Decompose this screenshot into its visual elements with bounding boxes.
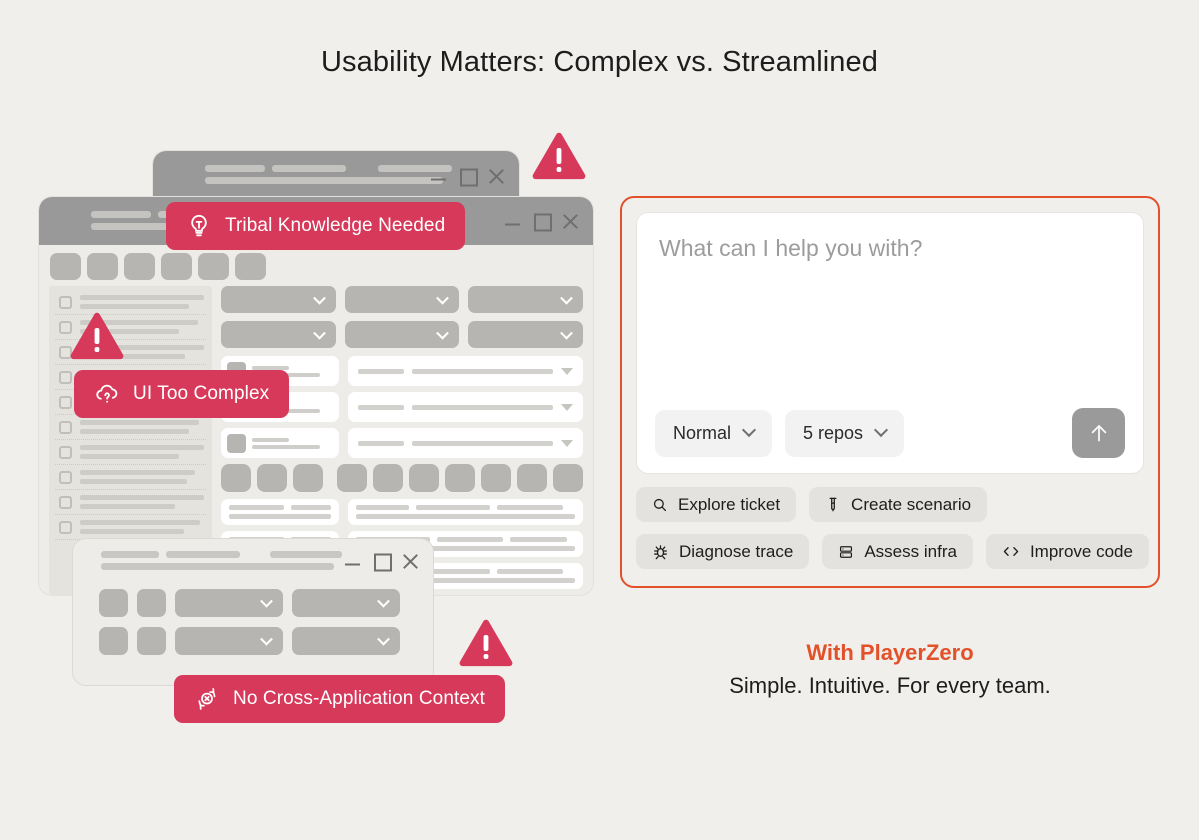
select-row [221, 286, 583, 313]
titlebar-placeholder-bars [101, 551, 342, 574]
icon-button[interactable] [137, 627, 166, 655]
select-placeholder[interactable] [468, 286, 583, 313]
close-icon[interactable] [402, 553, 419, 570]
code-brackets-icon [1002, 544, 1020, 559]
suggestion-row: Diagnose trace Assess infra [636, 534, 1144, 569]
toolbar [39, 245, 593, 286]
row-card[interactable] [348, 392, 583, 422]
lightbulb-icon [186, 213, 212, 239]
row-card[interactable] [348, 356, 583, 386]
toolbar-button[interactable] [50, 253, 81, 280]
window-controls[interactable] [430, 168, 505, 185]
checkbox[interactable] [59, 421, 72, 434]
chip-label: Improve code [1030, 542, 1133, 562]
composer[interactable]: What can I help you with? Normal 5 repos [636, 212, 1144, 474]
brand-text: With PlayerZero [620, 640, 1160, 666]
badge-label: No Cross-Application Context [233, 688, 485, 710]
callout-badge-no-context: No Cross-Application Context [174, 675, 505, 723]
pill-button[interactable] [481, 464, 511, 492]
pill-button[interactable] [553, 464, 583, 492]
toolbar-button[interactable] [198, 253, 229, 280]
window-controls[interactable] [504, 213, 579, 230]
repos-dropdown-label: 5 repos [803, 423, 863, 444]
chevron-down-icon [260, 595, 273, 608]
chip-label: Diagnose trace [679, 542, 793, 562]
mode-dropdown-label: Normal [673, 423, 731, 444]
maximize-icon[interactable] [459, 168, 476, 185]
text-row [221, 499, 583, 525]
control-row [99, 627, 413, 655]
refresh-error-icon [194, 686, 220, 712]
select-placeholder[interactable] [221, 286, 336, 313]
checkbox[interactable] [59, 371, 72, 384]
pill-button[interactable] [517, 464, 547, 492]
server-icon [838, 544, 854, 560]
toolbar-button[interactable] [235, 253, 266, 280]
chip-label: Explore ticket [678, 495, 780, 515]
flask-icon [825, 496, 841, 513]
badge-label: Tribal Knowledge Needed [225, 215, 445, 237]
pill-button[interactable] [373, 464, 403, 492]
chevron-down-icon [377, 595, 390, 608]
chevron-down-icon [436, 326, 449, 339]
repos-dropdown[interactable]: 5 repos [785, 410, 904, 457]
window-body [73, 583, 433, 655]
callout-badge-tribal-knowledge: Tribal Knowledge Needed [166, 202, 465, 250]
warning-triangle-icon [458, 618, 514, 668]
select-placeholder[interactable] [345, 321, 460, 348]
window-titlebar [73, 539, 433, 583]
list-card[interactable] [221, 428, 339, 458]
minimize-icon[interactable] [344, 553, 361, 570]
chevron-down-icon [874, 423, 888, 437]
minimize-icon[interactable] [504, 213, 521, 230]
checkbox[interactable] [59, 471, 72, 484]
chevron-down-icon [561, 440, 573, 447]
list-item[interactable] [55, 465, 206, 490]
select-placeholder[interactable] [292, 589, 400, 617]
control-row [99, 589, 413, 617]
cloud-question-icon [94, 381, 120, 407]
wireframe-window-front[interactable] [72, 538, 434, 686]
checkbox[interactable] [59, 396, 72, 409]
checkbox[interactable] [59, 446, 72, 459]
select-placeholder[interactable] [345, 286, 460, 313]
warning-triangle-icon [69, 311, 125, 361]
page-title: Usability Matters: Complex vs. Streamlin… [0, 46, 1199, 79]
select-placeholder[interactable] [468, 321, 583, 348]
text-card [348, 499, 583, 525]
text-card [221, 499, 339, 525]
chevron-down-icon [560, 326, 573, 339]
chip-label: Assess infra [864, 542, 957, 562]
chevron-down-icon [436, 291, 449, 304]
suggestion-row: Explore ticket Create scenario [636, 487, 1144, 522]
chevron-down-icon [377, 633, 390, 646]
icon-button[interactable] [99, 627, 128, 655]
chevron-down-icon [313, 326, 326, 339]
chevron-down-icon [313, 291, 326, 304]
composer-placeholder: What can I help you with? [659, 235, 1121, 262]
chevron-down-icon [561, 404, 573, 411]
toolbar-button[interactable] [124, 253, 155, 280]
select-placeholder[interactable] [175, 589, 283, 617]
toolbar-button[interactable] [87, 253, 118, 280]
arrow-up-icon [1088, 421, 1110, 445]
maximize-icon[interactable] [533, 213, 550, 230]
pill-row [221, 464, 583, 492]
chip-diagnose-trace[interactable]: Diagnose trace [636, 534, 809, 569]
pill-button[interactable] [293, 464, 323, 492]
minimize-icon[interactable] [430, 168, 447, 185]
bug-icon [652, 543, 669, 560]
list-item[interactable] [55, 440, 206, 465]
composer-controls: Normal 5 repos [655, 408, 1125, 458]
toolbar-button[interactable] [161, 253, 192, 280]
icon-button[interactable] [137, 589, 166, 617]
chip-improve-code[interactable]: Improve code [986, 534, 1149, 569]
chevron-down-icon [260, 633, 273, 646]
chevron-down-icon [560, 291, 573, 304]
close-icon[interactable] [488, 168, 505, 185]
tagline-text: Simple. Intuitive. For every team. [620, 673, 1160, 699]
select-placeholder[interactable] [221, 321, 336, 348]
thumbnail [227, 434, 246, 453]
chevron-down-icon [742, 423, 756, 437]
select-placeholder[interactable] [175, 627, 283, 655]
select-row [221, 321, 583, 348]
chip-explore-ticket[interactable]: Explore ticket [636, 487, 796, 522]
pill-button[interactable] [337, 464, 367, 492]
pill-button[interactable] [257, 464, 287, 492]
checkbox[interactable] [59, 521, 72, 534]
checkbox[interactable] [59, 296, 72, 309]
pill-button[interactable] [221, 464, 251, 492]
list-item[interactable] [55, 415, 206, 440]
icon-button[interactable] [99, 589, 128, 617]
pill-button[interactable] [445, 464, 475, 492]
maximize-icon[interactable] [373, 553, 390, 570]
chip-label: Create scenario [851, 495, 971, 515]
select-placeholder[interactable] [292, 627, 400, 655]
window-controls[interactable] [344, 553, 419, 570]
chevron-down-icon [561, 368, 573, 375]
list-item[interactable] [55, 490, 206, 515]
chip-create-scenario[interactable]: Create scenario [809, 487, 987, 522]
search-icon [652, 497, 668, 513]
playerzero-panel: What can I help you with? Normal 5 repos [620, 196, 1160, 588]
callout-badge-ui-complexity: UI Too Complex [74, 370, 289, 418]
chip-assess-infra[interactable]: Assess infra [822, 534, 973, 569]
warning-triangle-icon [531, 131, 587, 181]
window-titlebar [153, 151, 519, 201]
row-card[interactable] [348, 428, 583, 458]
suggestion-chips: Explore ticket Create scenario [636, 487, 1144, 569]
list-item[interactable] [55, 515, 206, 540]
send-button[interactable] [1072, 408, 1125, 458]
close-icon[interactable] [562, 213, 579, 230]
badge-label: UI Too Complex [133, 383, 269, 405]
pill-button[interactable] [409, 464, 439, 492]
titlebar-placeholder-bars [205, 165, 452, 188]
checkbox[interactable] [59, 496, 72, 509]
card-row [221, 428, 583, 458]
slide-canvas: Usability Matters: Complex vs. Streamlin… [0, 0, 1199, 840]
mode-dropdown[interactable]: Normal [655, 410, 772, 457]
